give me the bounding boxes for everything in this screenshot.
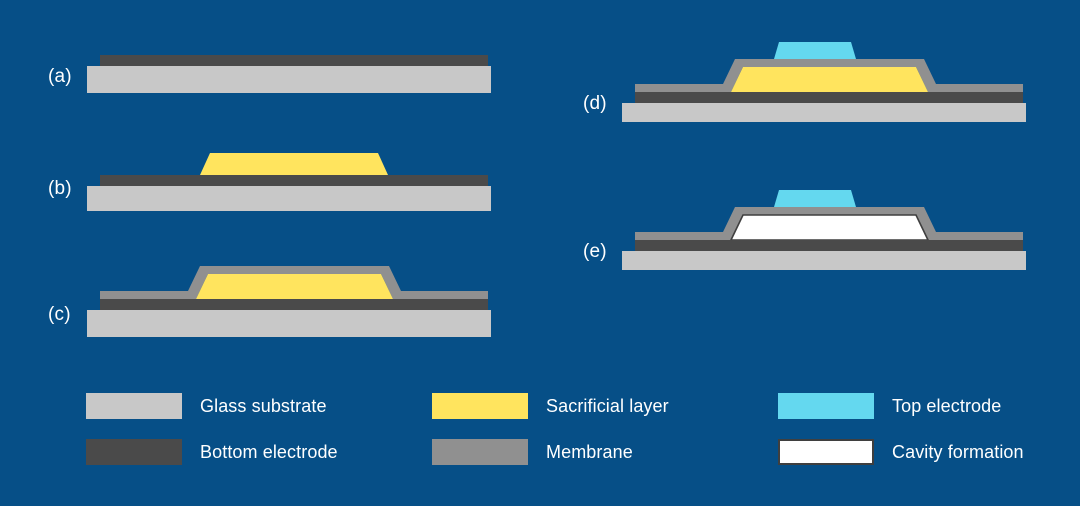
legend-item-cavity-formation: Cavity formation bbox=[778, 439, 1024, 465]
panel-b-cross-section bbox=[48, 145, 508, 211]
panel-d: (d) bbox=[583, 38, 1043, 122]
legend-label-membrane: Membrane bbox=[546, 442, 633, 463]
legend-swatch-membrane bbox=[432, 439, 528, 465]
legend-item-glass-substrate: Glass substrate bbox=[86, 393, 327, 419]
sacrificial-layer-layer bbox=[196, 274, 393, 299]
legend-label-cavity-formation: Cavity formation bbox=[892, 442, 1024, 463]
glass-substrate-layer bbox=[87, 66, 491, 93]
legend-swatch-sacrificial-layer bbox=[432, 393, 528, 419]
panel-d-cross-section bbox=[583, 38, 1043, 122]
top-electrode-layer bbox=[774, 190, 856, 207]
bottom-electrode-layer bbox=[100, 175, 488, 186]
process-flow-figure: (a) (b) (c) (d) bbox=[0, 0, 1080, 506]
glass-substrate-layer bbox=[87, 186, 491, 211]
panel-a: (a) bbox=[48, 50, 508, 100]
legend-swatch-bottom-electrode bbox=[86, 439, 182, 465]
panel-e-cross-section bbox=[583, 186, 1043, 270]
bottom-electrode-layer bbox=[100, 299, 488, 310]
legend-item-top-electrode: Top electrode bbox=[778, 393, 1001, 419]
top-electrode-layer bbox=[774, 42, 856, 59]
legend-label-sacrificial-layer: Sacrificial layer bbox=[546, 396, 669, 417]
sacrificial-layer-layer bbox=[731, 67, 928, 92]
bottom-electrode-layer bbox=[635, 240, 1023, 251]
panel-a-cross-section bbox=[48, 50, 508, 100]
legend-swatch-glass-substrate bbox=[86, 393, 182, 419]
sacrificial-layer-layer bbox=[200, 153, 388, 175]
legend-column-1: Glass substrate Bottom electrode bbox=[86, 384, 416, 480]
legend-item-sacrificial-layer: Sacrificial layer bbox=[432, 393, 669, 419]
bottom-electrode-layer bbox=[100, 55, 488, 66]
legend-label-top-electrode: Top electrode bbox=[892, 396, 1001, 417]
panel-c: (c) bbox=[48, 260, 508, 338]
panel-b: (b) bbox=[48, 145, 508, 211]
legend-item-bottom-electrode: Bottom electrode bbox=[86, 439, 338, 465]
legend-swatch-cavity-formation bbox=[778, 439, 874, 465]
legend-label-glass-substrate: Glass substrate bbox=[200, 396, 327, 417]
glass-substrate-layer bbox=[622, 103, 1026, 122]
legend-swatch-top-electrode bbox=[778, 393, 874, 419]
legend-item-membrane: Membrane bbox=[432, 439, 633, 465]
legend-column-3: Top electrode Cavity formation bbox=[778, 384, 1080, 480]
glass-substrate-layer bbox=[87, 310, 491, 337]
panel-e: (e) bbox=[583, 186, 1043, 270]
glass-substrate-layer bbox=[622, 251, 1026, 270]
legend-label-bottom-electrode: Bottom electrode bbox=[200, 442, 338, 463]
cavity-formation-layer bbox=[731, 215, 928, 240]
bottom-electrode-layer bbox=[635, 92, 1023, 103]
panel-c-cross-section bbox=[48, 260, 508, 338]
legend: Glass substrate Bottom electrode Sacrifi… bbox=[86, 384, 1046, 480]
legend-column-2: Sacrificial layer Membrane bbox=[432, 384, 762, 480]
